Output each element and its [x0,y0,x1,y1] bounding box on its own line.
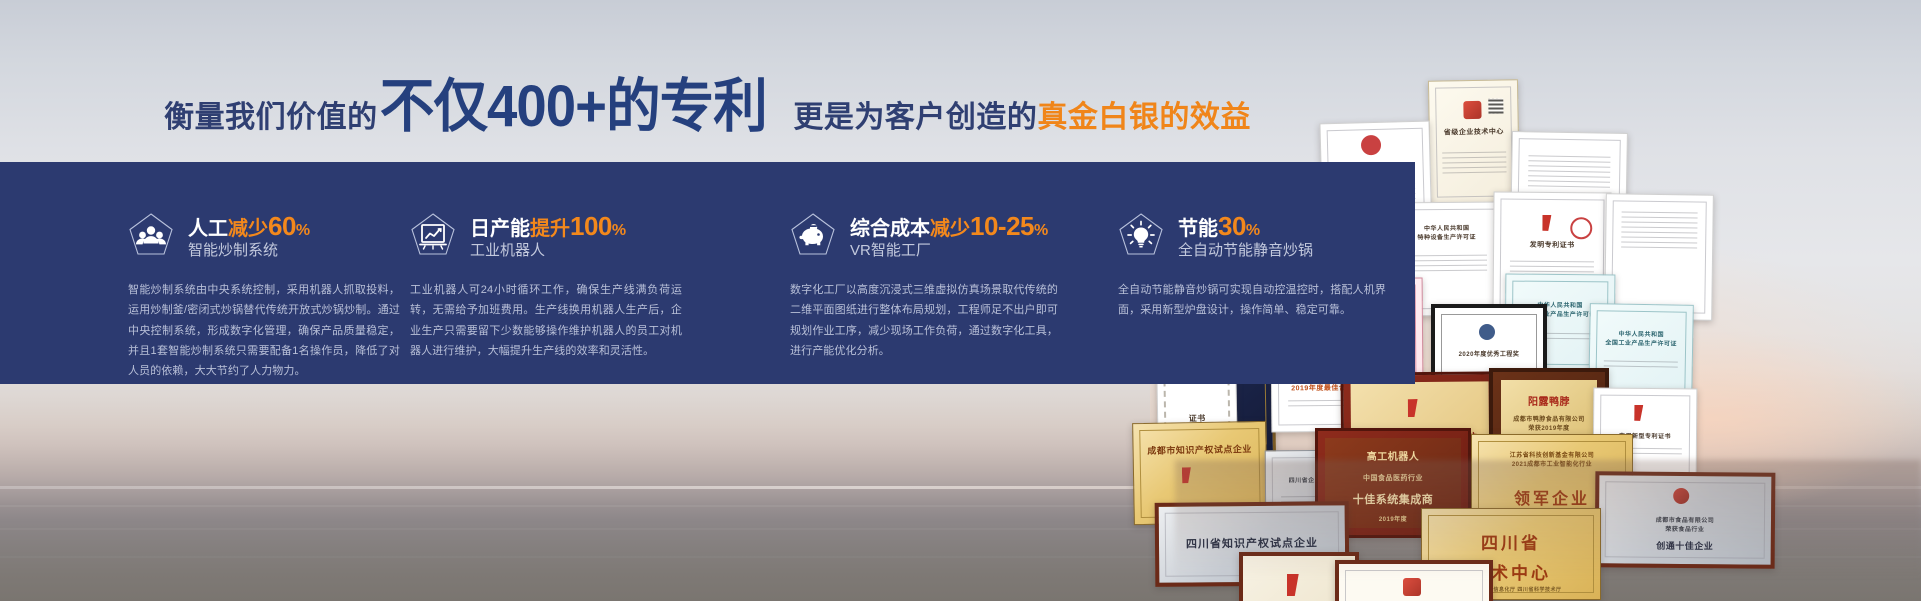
headline-highlight: 真金白银的效益 [1037,103,1251,136]
feature-subtitle: VR智能工厂 [850,243,1048,258]
feature-title: 日产能提升100% [470,213,626,239]
feature-title: 人工减少60% [188,213,310,239]
headline-middle: 更是为客户创造的 [793,103,1037,136]
feature-subtitle: 全自动节能静音炒锅 [1178,243,1313,258]
headline-emphasis: 不仅400+的专利 [378,78,769,136]
certificate-item: 省级企业技术中心 [1428,79,1520,205]
banner-stage: 省级企业技术中心 辐射安全许可证 CQC认证证书 中华人民共和国特种设备生产许可… [0,0,1921,601]
feature-body: 数字化工厂以高度沉浸式三维虚拟仿真场景取代传统的二维平面图纸进行整体布局规划，工… [790,280,1058,361]
people-group-icon [128,212,174,258]
feature-text: 人工减少60% 智能炒制系统 [188,213,310,258]
certificate-reflection [1175,460,1921,580]
feature-header: 日产能提升100% 工业机器人 [410,162,710,258]
headline-prefix: 衡量我们价值的 [164,103,378,136]
headline: 衡量我们价值的 不仅400+的专利 更是为客户创造的 真金白银的效益 [0,74,1415,136]
feature-header: 人工减少60% 智能炒制系统 [128,162,428,258]
feature-text: 日产能提升100% 工业机器人 [470,213,626,258]
piggy-bank-icon [790,212,836,258]
lightbulb-icon [1118,212,1164,258]
feature-header: 节能30% 全自动节能静音炒锅 [1118,162,1418,258]
certificate-item [1604,193,1714,320]
feature-text: 节能30% 全自动节能静音炒锅 [1178,213,1313,258]
feature-column-2: 日产能提升100% 工业机器人 工业机器人可24小时循环工作，确保生产线满负荷运… [410,162,710,384]
feature-body: 全自动节能静音炒锅可实现自动控温控时，搭配人机界面，采用新型炉盘设计，操作简单、… [1118,280,1386,321]
feature-title: 节能30% [1178,213,1313,239]
feature-panel: 人工减少60% 智能炒制系统 智能炒制系统由中央系统控制，采用机器人抓取投料，运… [0,162,1415,384]
feature-body: 工业机器人可24小时循环工作，确保生产线满负荷运转，无需给予加班费用。生产线换用… [410,280,682,361]
feature-column-3: 综合成本减少10-25% VR智能工厂 数字化工厂以高度沉浸式三维虚拟仿真场景取… [790,162,1100,384]
feature-text: 综合成本减少10-25% VR智能工厂 [850,213,1048,258]
feature-subtitle: 智能炒制系统 [188,243,310,258]
feature-title: 综合成本减少10-25% [850,213,1048,239]
feature-body: 智能炒制系统由中央系统控制，采用机器人抓取投料，运用炒制釜/密闭式炒锅替代传统开… [128,280,400,382]
chart-board-icon [410,212,456,258]
feature-column-1: 人工减少60% 智能炒制系统 智能炒制系统由中央系统控制，采用机器人抓取投料，运… [128,162,428,384]
feature-header: 综合成本减少10-25% VR智能工厂 [790,162,1100,258]
feature-subtitle: 工业机器人 [470,243,626,258]
feature-column-4: 节能30% 全自动节能静音炒锅 全自动节能静音炒锅可实现自动控温控时，搭配人机界… [1118,162,1418,384]
